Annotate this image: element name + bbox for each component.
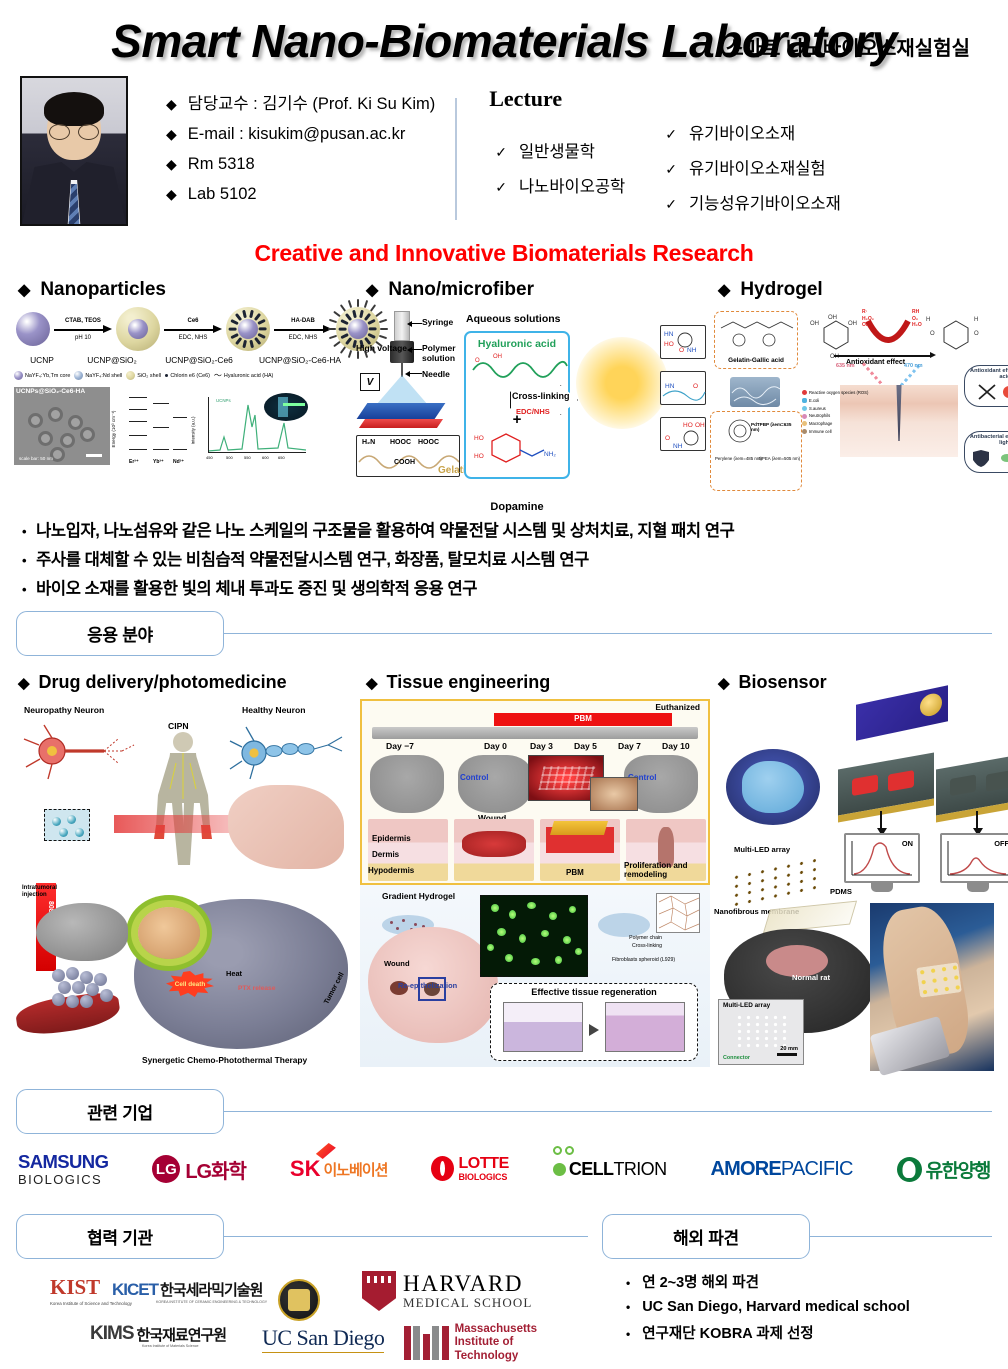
legend-label: Immune cell xyxy=(809,428,832,436)
diamond-icon: ◆ xyxy=(718,280,730,300)
human-body-figure xyxy=(150,729,216,869)
check-icon: ✓ xyxy=(495,179,507,196)
svg-text:HO: HO xyxy=(664,341,674,348)
professor-photo xyxy=(20,76,128,226)
x-tick: 550 xyxy=(244,455,251,460)
lecture-section: 스마트 나노바이오소재실험실 Lecture ✓ 일반생물학 ✓ 나노바이오공학… xyxy=(457,76,988,225)
applications-section-header: 응용 분야 xyxy=(0,611,1008,656)
research-bullet: • 나노입자, 나노섬유와 같은 나노 스케일의 구조물을 활용하여 약물전달 … xyxy=(22,517,994,541)
bond-detail-1: HN HO NH O xyxy=(660,325,706,359)
applications-label: 응용 분야 xyxy=(16,611,224,656)
healthy-neuron-label: Healthy Neuron xyxy=(242,705,306,715)
gelatin-group-hooc-2: HOOC xyxy=(418,439,439,446)
sio2-swatch xyxy=(126,371,135,380)
application-heading-biosensor: ◆ Biosensor xyxy=(718,672,990,693)
legend-label: Chlorin e6 (Ce6) xyxy=(170,373,210,379)
legend-label: NaYF₄:Yb,Tm core xyxy=(25,373,70,379)
epidermis-label: Epidermis xyxy=(372,834,411,843)
legend-core: NaYF₄:Yb,Tm core xyxy=(14,371,70,380)
mouse-model xyxy=(36,903,128,961)
legend-label: NaYF₄:Nd shell xyxy=(85,373,122,379)
kist-wordmark: KIST xyxy=(50,1275,100,1300)
neuropathy-neuron-drawing xyxy=(18,717,142,789)
svg-text:O: O xyxy=(475,358,480,364)
diamond-icon: ◆ xyxy=(366,674,378,692)
bullet-text: 연 2~3명 해외 파견 xyxy=(642,1271,759,1292)
pdms-label: PDMS xyxy=(830,887,852,896)
x-tick: 450 xyxy=(206,455,213,460)
lg-mark: LG xyxy=(152,1155,180,1183)
lecture-item: ✓ 기능성유기바이오소재 xyxy=(665,190,841,214)
particle-ucnp-sio2-ce6 xyxy=(226,307,270,351)
perylene-label: Perylene (λem=485 nm) xyxy=(715,456,762,461)
application-heading-tissue-engineering: ◆ Tissue engineering xyxy=(366,672,718,693)
svg-text:O: O xyxy=(974,331,979,337)
particle-ucnp xyxy=(16,312,50,346)
celltrion-dots-icon xyxy=(553,1146,574,1155)
diamond-icon: ◆ xyxy=(366,280,378,300)
heading-label: Drug delivery/photomedicine xyxy=(39,672,287,693)
biosensor-detection-panel: ON OFF Multi-LED array PDMS xyxy=(710,699,998,899)
x-tick: 500 xyxy=(226,455,233,460)
network-schematic xyxy=(656,893,700,933)
lotte-sub: BIOLOGICS xyxy=(458,1172,508,1182)
contact-text: Lab 5102 xyxy=(188,185,257,204)
svg-text:H: H xyxy=(974,317,978,323)
gradient-hydrogel-panel: Gradient Hydrogel Wound Re-epithelizatio… xyxy=(360,885,710,1067)
bullet-text: 주사를 대체할 수 있는 비침습적 약물전달시스템 연구, 화장품, 탈모치료 … xyxy=(36,546,589,570)
bullet-text: 나노입자, 나노섬유와 같은 나노 스케일의 구조물을 활용하여 약물전달 시스… xyxy=(36,517,734,541)
lecture-label: 기능성유기바이오소재 xyxy=(689,190,841,214)
celltrion-wordmark: CELL xyxy=(569,1159,614,1180)
overseas-bullet: • UC San Diego, Harvard medical school xyxy=(626,1299,992,1315)
lecture-list-right: ✓ 유기바이오소재 ✓ 유기바이오소재실험 ✓ 기능성유기바이오소재 xyxy=(665,120,841,225)
lecture-label: 일반생물학 xyxy=(519,138,595,162)
company-logo-row: SAMSUNG BIOLOGICS LG LG화학 SK 이노베이션 LOTTE… xyxy=(0,1134,1008,1196)
ptx-release-label: PTX release xyxy=(238,985,275,992)
diamond-icon: ◆ xyxy=(18,280,30,300)
contact-text: E-mail : kisukim@pusan.ac.kr xyxy=(188,125,406,144)
off-label: OFF xyxy=(994,839,1008,848)
x-tick: 650 xyxy=(278,455,285,460)
voltage-source: V xyxy=(360,373,380,391)
dermis-label: Dermis xyxy=(372,850,399,859)
contact-item-room: ◆ Rm 5318 xyxy=(166,155,435,174)
re-epithelization-label: Re-epithelization xyxy=(398,981,457,990)
stage-label: UCNP@SiO₂ xyxy=(72,355,152,365)
bullet-icon: • xyxy=(626,1327,630,1341)
healthy-hand-illustration xyxy=(228,785,344,869)
aqueous-solutions-title: Aqueous solutions xyxy=(466,313,561,325)
svg-text:O: O xyxy=(679,347,684,354)
nanoparticle-figure: CTAB, TEOS pH 10 Ce6 EDC, NHS HA-DAB EDC… xyxy=(10,307,360,507)
lg-wordmark: LG화학 xyxy=(185,1155,246,1184)
contact-list: ◆ 담당교수 : 김기수 (Prof. Ki Su Kim) ◆ E-mail … xyxy=(166,76,435,215)
bullet-icon: • xyxy=(626,1276,630,1290)
research-title: Creative and Innovative Biomaterials Res… xyxy=(0,240,1008,267)
research-bullet-list: • 나노입자, 나노섬유와 같은 나노 스케일의 구조물을 활용하여 약물전달 … xyxy=(0,507,1008,599)
gallic-acid-structure: OH OH OH OH xyxy=(808,313,864,359)
cell-legend: Reactive oxygen species (ROS) E.coli S.a… xyxy=(802,389,868,436)
lecture-item: ✓ 일반생물학 xyxy=(495,138,665,162)
sensor-slab-on xyxy=(838,753,934,816)
legend-ha: 〜 Hyaluronic acid (HA) xyxy=(214,372,273,380)
nanofibrous-membrane xyxy=(763,901,857,934)
sensor-slab-off xyxy=(936,753,1008,816)
research-bullet: • 바이오 소재를 활용한 빛의 체내 투과도 증진 및 생의학적 응용 연구 xyxy=(22,575,994,599)
shell-swatch xyxy=(74,371,83,380)
svg-text:HN: HN xyxy=(665,383,675,390)
therapy-caption: Synergetic Chemo-Photothermal Therapy xyxy=(142,1055,307,1065)
partner-logo-grid: KIST Korea Institute of Science and Tech… xyxy=(16,1261,588,1369)
bullet-text: 연구재단 KOBRA 과제 선정 xyxy=(642,1322,813,1343)
polymer-chain-legend: Polymer chain xyxy=(629,935,662,941)
taylor-cone xyxy=(376,375,428,405)
gradient-hydrogel-label: Gradient Hydrogel xyxy=(382,891,455,901)
research-headings: ◆ Nanoparticles ◆ Nano/microfiber ◆ Hydr… xyxy=(0,279,1008,301)
svg-text:HO: HO xyxy=(474,453,484,460)
sensor-chip xyxy=(856,685,948,741)
saureus-swatch xyxy=(802,406,807,411)
nanoparticle-inset xyxy=(44,809,90,841)
logo-yuhan: 유한양행 xyxy=(897,1156,990,1183)
arrow-reagent-top: Ce6 xyxy=(162,318,224,324)
harvard-sub: MEDICAL SCHOOL xyxy=(403,1295,532,1311)
particle-ucnp-sio2 xyxy=(116,307,160,351)
reaction-arrow-1: CTAB, TEOS pH 10 xyxy=(52,318,114,341)
bullet-icon: • xyxy=(22,553,26,568)
svg-text:H: H xyxy=(926,317,930,323)
photothermal-therapy-illustration: 808 nm laser Cell death Heat PTX release… xyxy=(10,885,360,1067)
gelatin-group-h2n: H₂N xyxy=(362,439,375,446)
diamond-icon: ◆ xyxy=(166,96,177,113)
wound-label-2: Wound xyxy=(384,959,410,968)
partners-section-header: 협력 기관 xyxy=(16,1214,588,1259)
synthesis-scheme: CTAB, TEOS pH 10 Ce6 EDC, NHS HA-DAB EDC… xyxy=(10,307,360,351)
lecture-item: ✓ 유기바이오소재실험 xyxy=(665,155,841,179)
timeline-day: Day 0 xyxy=(484,741,507,751)
reaction-arrow-3: HA-DAB EDC, NHS xyxy=(272,318,334,341)
ucsd-seal-icon xyxy=(278,1279,320,1321)
wound-photo xyxy=(590,777,638,811)
header-info-row: ◆ 담당교수 : 김기수 (Prof. Ki Su Kim) ◆ E-mail … xyxy=(0,68,1008,226)
bullet-icon: • xyxy=(22,582,26,597)
companies-label: 관련 기업 xyxy=(16,1089,224,1134)
lecture-list-left: ✓ 일반생물학 ✓ 나노바이오공학 xyxy=(495,138,665,225)
heading-label: Biosensor xyxy=(739,672,827,693)
amore-sub: PACIFIC xyxy=(781,1158,853,1181)
kicet-sub: KOREA INSTITUTE OF CERAMIC ENGINEERING &… xyxy=(156,1300,267,1304)
histology-after xyxy=(605,1002,685,1052)
particle-legend: NaYF₄:Yb,Tm core NaYF₄:Nd shell SiO₂ she… xyxy=(10,371,360,380)
regeneration-title: Effective tissue regeneration xyxy=(491,987,697,997)
hydrogel-disc-small xyxy=(598,913,650,937)
cell-nucleus xyxy=(138,907,200,959)
contact-item-email: ◆ E-mail : kisukim@pusan.ac.kr xyxy=(166,125,435,144)
diamond-icon: ◆ xyxy=(18,674,30,692)
kims-kr: 한국재료연구원 xyxy=(137,1324,227,1345)
logo-lotte-biologics: LOTTE BIOLOGICS xyxy=(431,1156,508,1182)
heading-label: Tissue engineering xyxy=(387,672,551,693)
ion-label: Nd³⁺ xyxy=(173,459,184,465)
connector-label: Connector xyxy=(723,1055,750,1061)
tem-caption: UCNPs@SiO₂-Ce6-HA xyxy=(16,388,85,395)
svg-text:OH: OH xyxy=(695,422,705,429)
gelatin-group-cooh: COOH xyxy=(394,459,415,466)
ion-label: Yb³⁺ xyxy=(153,459,164,465)
overseas-bullet: • 연구재단 KOBRA 과제 선정 xyxy=(626,1322,992,1343)
pbm-label: PBM xyxy=(574,714,592,723)
amore-wordmark: AMORE xyxy=(710,1158,780,1181)
ion-label: Er³⁺ xyxy=(129,459,139,465)
svg-text:HO: HO xyxy=(683,422,693,429)
lab-name-korean: 스마트 나노바이오소재실험실 xyxy=(725,32,970,61)
celltrion-dot xyxy=(553,1163,566,1176)
legend-label: SiO₂ shell xyxy=(137,373,161,379)
logo-harvard-medical-school: HARVARD MEDICAL SCHOOL xyxy=(362,1271,532,1311)
ucsd-wordmark: UC San Diego xyxy=(262,1325,384,1351)
antioxidant-effect-box: Antioxidant effect of gallic acid xyxy=(964,365,1008,407)
logo-samsung-biologics: SAMSUNG BIOLOGICS xyxy=(18,1151,108,1187)
wavelength-635: 635 nm xyxy=(836,363,855,369)
check-icon: ✓ xyxy=(665,161,677,178)
bond-detail-2: HN O xyxy=(660,371,706,405)
logo-kims: KIMS 한국재료연구원 Korea Institute of Material… xyxy=(90,1323,226,1345)
research-heading-hydrogel: ◆ Hydrogel xyxy=(718,279,990,301)
legend-label: Neutrophils xyxy=(809,412,830,420)
timeline-day: Day 5 xyxy=(574,741,597,751)
lecture-label: 유기바이오소재실험 xyxy=(689,155,826,179)
legend-macrophage: Macrophage xyxy=(802,420,868,428)
healthy-neuron-drawing xyxy=(228,717,352,789)
legend-ecoli: E.coli xyxy=(802,397,868,405)
lecture-item: ✓ 유기바이오소재 xyxy=(665,120,841,144)
proliferation-label: Proliferation and remodeling xyxy=(624,861,706,879)
hydrogel-block xyxy=(730,377,780,407)
high-voltage-label: High voltage xyxy=(356,343,407,353)
histology-before xyxy=(503,1002,583,1052)
legend-sio2-shell: SiO₂ shell xyxy=(126,371,161,380)
logo-sk-innovation: SK 이노베이션 xyxy=(290,1156,388,1182)
legend-ros: Reactive oxygen species (ROS) xyxy=(802,389,868,397)
legend-label: Macrophage xyxy=(809,420,832,428)
reaction-arrow-2: Ce6 EDC, NHS xyxy=(162,318,224,341)
logo-kicet: KICET 한국세라믹기술원 KOREA INSTITUTE OF CERAMI… xyxy=(112,1279,262,1300)
overseas-label: 해외 파견 xyxy=(602,1214,810,1259)
arrow-reagent-top: HA-DAB xyxy=(272,318,334,324)
svg-text:OH: OH xyxy=(848,321,857,327)
overseas-bullet-list: • 연 2~3명 해외 파견 • UC San Diego, Harvard m… xyxy=(602,1271,992,1343)
heading-label: Nano/microfiber xyxy=(388,279,534,301)
legend-neutrophils: Neutrophils xyxy=(802,412,868,420)
svg-text:NH: NH xyxy=(673,443,683,450)
timeline-bar xyxy=(372,727,698,739)
heading-label: Hydrogel xyxy=(740,279,822,301)
gelatin-group-hooc: HOOC xyxy=(390,439,411,446)
rat-day-minus7 xyxy=(370,755,444,813)
biosensor-figures: ON OFF Multi-LED array PDMS Nanofibr xyxy=(710,699,998,1077)
hyaluronic-acid-label: Hyaluronic acid xyxy=(466,338,568,350)
svg-text:NH: NH xyxy=(687,347,697,354)
yuhan-tree-icon xyxy=(897,1157,922,1182)
svg-text:OH: OH xyxy=(828,315,837,321)
check-icon: ✓ xyxy=(665,126,677,143)
ros-swatch xyxy=(802,390,807,395)
progress-arrow xyxy=(589,1024,599,1036)
spheroid-legend: Fibroblasts spheroid (L929) xyxy=(612,957,702,963)
skin-wounded xyxy=(454,819,534,881)
effect-label: Antioxidant effect of gallic acid xyxy=(965,368,1008,380)
cell-death-label: Cell death xyxy=(175,981,206,988)
multi-led-array-label: Multi-LED array xyxy=(734,845,790,854)
kist-sub: Korea Institute of Science and Technolog… xyxy=(50,1301,132,1306)
jablonski-ylabel: Energy (10³ cm⁻¹) xyxy=(111,411,117,448)
research-bullet: • 주사를 대체할 수 있는 비침습적 약물전달시스템 연구, 화장품, 탈모치… xyxy=(22,546,994,570)
gelatin-gallic-label: Gelatin-Gallic acid xyxy=(715,357,797,364)
wavelength-470: 470 nm xyxy=(904,363,923,369)
fluorescence-image xyxy=(480,895,588,977)
legend-immune-cell: Immune cell xyxy=(802,428,868,436)
ha-swatch: 〜 xyxy=(214,372,222,380)
needle-label: Needle xyxy=(422,369,450,379)
rat-day-0 xyxy=(458,755,532,813)
legend-label: Reactive oxygen species (ROS) xyxy=(809,389,868,397)
diamond-icon: ◆ xyxy=(166,186,177,203)
logo-uc-san-diego: UC San Diego xyxy=(262,1325,384,1351)
hypodermis-label: Hypodermis xyxy=(368,866,414,875)
contact-item-lab: ◆ Lab 5102 xyxy=(166,185,435,204)
emission-spectrum: Intensity (a.u.) UCNPs 450 500 550 600 6… xyxy=(192,387,310,465)
mit-sub: MassachusettsInstitute ofTechnology xyxy=(455,1323,537,1363)
pbm-timeline-panel: PBM Euthanized Day −7 Day 0 Day 3 Day 5 … xyxy=(360,699,710,885)
readout-monitor-on: ON xyxy=(844,833,920,883)
immune-swatch xyxy=(802,429,807,434)
crosslink-reagent-label: EDC/NHS xyxy=(516,407,550,416)
sk-wordmark: SK xyxy=(290,1156,321,1182)
led-array-inset: Multi-LED array Connector 20 mm xyxy=(718,999,804,1065)
inset-led-label: Multi-LED array xyxy=(723,1002,770,1009)
gelatin-gallic-structure xyxy=(717,314,797,350)
harvard-wordmark: HARVARD xyxy=(403,1272,532,1295)
logo-amorepacific: AMORE PACIFIC xyxy=(710,1158,852,1181)
quinone-structure: H H O O xyxy=(924,311,988,355)
euthanized-label: Euthanized xyxy=(655,702,700,712)
effect-label: Antibacterial effect of blue light xyxy=(965,434,1008,446)
legend-label: E.coli xyxy=(809,397,819,405)
stage-labels: UCNP UCNP@SiO₂ UCNP@SiO₂-Ce6 UCNP@SiO₂-C… xyxy=(10,355,360,365)
neuropathy-label: Neuropathy Neuron xyxy=(24,705,104,715)
wearable-device-panel: Nanofibrous membrane Normal rat Multi-LE… xyxy=(710,899,998,1077)
cipn-illustration: Neuropathy Neuron Healthy Neuron CIPN xyxy=(10,699,360,885)
celltrion-sub: TRION xyxy=(613,1159,666,1180)
lecture-item: ✓ 나노바이오공학 xyxy=(495,173,665,197)
spectrum-ylabel: Intensity (a.u.) xyxy=(191,416,196,444)
bullet-icon: • xyxy=(22,524,26,539)
stage-label: UCNP xyxy=(12,355,72,365)
harvard-shield-icon xyxy=(362,1271,396,1311)
samsung-wordmark: SAMSUNG xyxy=(18,1151,108,1173)
crosslinked-network xyxy=(576,337,668,429)
lotte-wordmark: LOTTE xyxy=(458,1156,508,1172)
pdtpbp-structure xyxy=(714,415,802,449)
lecture-label: 나노바이오공학 xyxy=(519,173,625,197)
gelatin-gallic-box: Gelatin-Gallic acid xyxy=(714,311,798,369)
on-label: ON xyxy=(902,839,913,848)
injection-label: Intratumoral injection xyxy=(22,885,64,899)
svg-text:O: O xyxy=(693,383,698,390)
reaction-arc xyxy=(862,319,914,353)
svg-text:HO: HO xyxy=(474,435,484,442)
nanofiber-figure: V High voltage Syringe Polymer solution … xyxy=(360,307,710,507)
ce6-swatch xyxy=(165,374,168,377)
timeline-day: Day −7 xyxy=(386,741,414,751)
tissue-engineering-figures: PBM Euthanized Day −7 Day 0 Day 3 Day 5 … xyxy=(360,699,710,1077)
stage-label: UCNP@SiO₂-Ce6 xyxy=(152,355,246,365)
ecoli-swatch xyxy=(802,398,807,403)
pdtpbp-label: PdTPBP (λem=635 nm) xyxy=(751,422,801,432)
dopamine-label: Dopamine xyxy=(466,501,568,513)
wearable-on-skin-photo xyxy=(870,903,994,1071)
logo-kist: KIST Korea Institute of Science and Tech… xyxy=(50,1275,100,1300)
neutrophil-swatch xyxy=(802,414,807,419)
pbm-treatment-bar: PBM xyxy=(494,713,672,726)
header-rule xyxy=(224,1111,992,1113)
bond-detail-3: HO OH O NH xyxy=(660,417,706,451)
timeline-day: Day 7 xyxy=(618,741,641,751)
tem-micrograph: UCNPs@SiO₂-Ce6-HA scale bar: 50 nm xyxy=(14,387,110,465)
lecture-heading: Lecture xyxy=(489,86,988,112)
diamond-icon: ◆ xyxy=(718,674,730,692)
heat-label: Heat xyxy=(226,969,242,978)
application-heading-drug-delivery: ◆ Drug delivery/photomedicine xyxy=(18,672,366,693)
diamond-icon: ◆ xyxy=(166,126,177,143)
tissue-regeneration-box: Effective tissue regeneration xyxy=(490,983,698,1061)
core-swatch xyxy=(14,371,23,380)
arrow-reagent-bottom: EDC, NHS xyxy=(272,335,334,341)
sk-sub: 이노베이션 xyxy=(323,1159,387,1180)
dopamine-structure: HO HO NH₂ xyxy=(472,428,572,468)
bullet-text: 바이오 소재를 활용한 빛의 체내 투과도 증진 및 생의학적 응용 연구 xyxy=(36,575,477,599)
readout-monitor-off: OFF xyxy=(940,833,1008,883)
timeline-day: Day 3 xyxy=(530,741,553,751)
collector-plate xyxy=(357,403,446,419)
hydrogel-figure: Gelatin-Gallic acid PdTPBP (λem=635 nm) … xyxy=(710,307,998,507)
svg-text:OH: OH xyxy=(810,321,819,327)
samsung-sub: BIOLOGICS xyxy=(18,1172,102,1187)
arrow-reagent-bottom: pH 10 xyxy=(52,335,114,341)
header-rule xyxy=(224,633,992,635)
logo-mit: MassachusettsInstitute ofTechnology xyxy=(404,1323,537,1363)
contact-item-professor: ◆ 담당교수 : 김기수 (Prof. Ki Su Kim) xyxy=(166,90,435,114)
check-icon: ✓ xyxy=(495,144,507,161)
research-heading-nanoparticles: ◆ Nanoparticles xyxy=(18,279,366,301)
contact-text: Rm 5318 xyxy=(188,155,255,174)
sample-dish xyxy=(726,749,820,825)
bullet-text: UC San Diego, Harvard medical school xyxy=(642,1299,910,1315)
overseas-bullet: • 연 2~3명 해외 파견 xyxy=(626,1271,992,1292)
tumor-cluster xyxy=(48,965,122,1017)
svg-text:OH: OH xyxy=(493,354,502,360)
ha-chain: O OH xyxy=(469,350,569,380)
legend-ce6: Chlorin e6 (Ce6) xyxy=(165,373,210,379)
legend-label: Hyaluronic acid (HA) xyxy=(224,373,273,379)
syringe-label: Syringe xyxy=(422,317,453,327)
svg-text:NH₂: NH₂ xyxy=(544,451,556,458)
crosslink-legend: Cross-linking xyxy=(632,943,662,949)
overseas-section-header: 해외 파견 xyxy=(602,1214,992,1259)
control-label: Control xyxy=(460,773,488,782)
bpea-label: BPEA (λem=505 nm) xyxy=(759,456,800,461)
